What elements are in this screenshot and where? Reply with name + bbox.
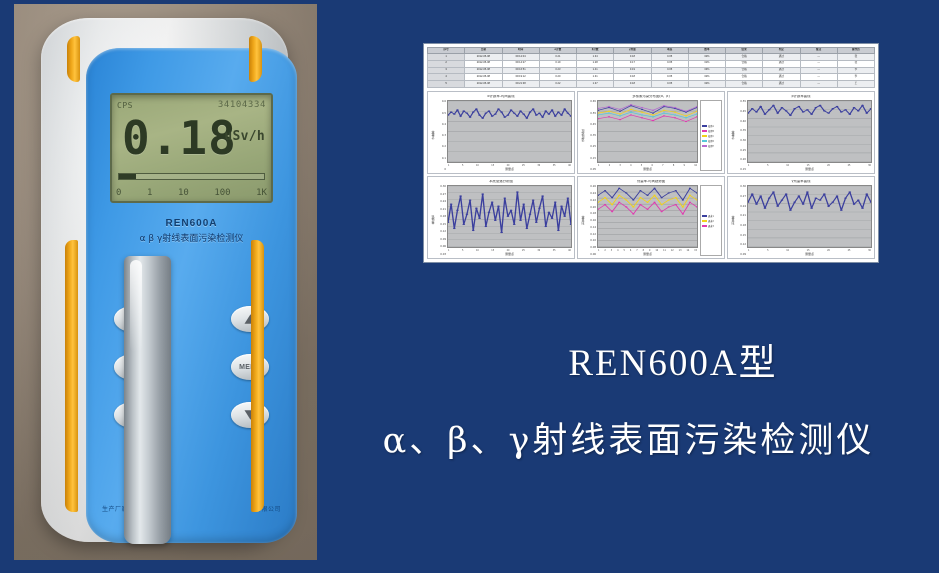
chart-data-point bbox=[541, 117, 544, 118]
chart-plot-column: 151015202530测量点 bbox=[747, 100, 872, 171]
chart-y-ticks: 0.650.550.450.350.250.150.05 bbox=[586, 100, 597, 171]
chart-data-point bbox=[793, 202, 796, 203]
table-cell: 0.05 bbox=[651, 67, 688, 74]
table-cell: 合格 bbox=[726, 81, 763, 88]
chart-data-point bbox=[551, 110, 554, 111]
chart-data-point bbox=[566, 198, 569, 199]
table-cell: — bbox=[800, 67, 837, 74]
chart-data-point bbox=[491, 202, 494, 203]
chart-data-point bbox=[557, 230, 560, 231]
chart-data-point bbox=[675, 197, 677, 198]
chart-data-point bbox=[768, 110, 771, 111]
table-cell: 0.05 bbox=[651, 81, 688, 88]
lcd-display: CPS 34104334 0.18 uSv/h 01101001K bbox=[110, 93, 273, 203]
chart-data-point bbox=[810, 114, 813, 115]
chart-data-point bbox=[529, 112, 532, 113]
chart-data-point bbox=[625, 207, 627, 208]
table-cell: 09:16:51 bbox=[502, 67, 539, 74]
chart-data-point bbox=[798, 106, 801, 107]
chart-data-point bbox=[689, 188, 691, 189]
chart-data-point bbox=[789, 115, 792, 116]
chart-y-tick: 0.21 bbox=[736, 214, 746, 217]
chart-data-point bbox=[768, 198, 771, 199]
chart-data-point bbox=[462, 111, 465, 112]
chart-svg bbox=[748, 186, 871, 247]
chart-data-point bbox=[608, 113, 610, 114]
chart-body: 剂量率0.260.240.220.200.180.160.140.120.100… bbox=[580, 185, 722, 256]
chart-data-point bbox=[611, 204, 613, 205]
chart-y-tick: 0.16 bbox=[586, 219, 596, 222]
chart-data-point bbox=[619, 116, 621, 117]
chart-data-point bbox=[815, 107, 818, 108]
lcd-bargraph bbox=[118, 173, 265, 180]
chart-y-tick: 0.05 bbox=[586, 168, 596, 171]
chart-data-point bbox=[630, 115, 632, 116]
table-cell: 0.05 bbox=[651, 60, 688, 67]
chart-data-point bbox=[639, 204, 641, 205]
table-cell: 1.28 bbox=[577, 60, 614, 67]
chart-plot-area bbox=[447, 100, 572, 163]
chart-data-point bbox=[554, 116, 557, 117]
chart-data-point bbox=[608, 106, 610, 107]
chart-y-tick: 0.25 bbox=[586, 145, 596, 148]
chart-data-point bbox=[675, 204, 677, 205]
chart-legend-label: 核素C bbox=[708, 134, 714, 138]
table-cell: 王 bbox=[837, 81, 874, 88]
chart-data-point bbox=[663, 105, 665, 106]
chart-data-point bbox=[618, 202, 620, 203]
chart-y-tick: 0.45 bbox=[586, 123, 596, 126]
chart-data-point bbox=[815, 198, 818, 199]
chart-data-point bbox=[776, 113, 779, 114]
chart-y-ticks: 0.300.270.240.210.180.150.120.090.060.03 bbox=[436, 185, 447, 256]
chart-data-point bbox=[653, 188, 655, 189]
chart-x-axis-label: 测量点 bbox=[597, 167, 698, 171]
table-cell: 0.22 bbox=[539, 81, 576, 88]
chart-title: 多核素污染分布图(α、β) bbox=[580, 95, 722, 98]
chart-data-point bbox=[525, 228, 528, 229]
chart-y-tick: 0.24 bbox=[736, 205, 746, 208]
chart-y-tick: 0.40 bbox=[736, 120, 746, 123]
chart-legend: 核素A核素B核素C核素D核素E bbox=[700, 100, 722, 171]
table-cell: 1.34 bbox=[577, 54, 614, 61]
table-cell: 0.20 bbox=[539, 74, 576, 81]
lcd-mode-label: CPS bbox=[117, 101, 133, 110]
chart-data-point bbox=[819, 200, 822, 201]
table-cell: 4 bbox=[428, 74, 465, 81]
chart-plot-column: 151015202530测量点 bbox=[747, 185, 872, 256]
chart-y-tick: 0 bbox=[436, 168, 446, 171]
table-cell: 0.18 bbox=[614, 54, 651, 61]
lcd-scale-tick: 1 bbox=[147, 188, 152, 198]
chart-y-tick: 0.09 bbox=[736, 253, 746, 256]
chart-legend-swatch bbox=[702, 135, 707, 137]
chart-data-point bbox=[494, 114, 497, 115]
chart-data-point bbox=[551, 218, 554, 219]
chart-data-point bbox=[608, 117, 610, 118]
chart-svg bbox=[598, 101, 697, 162]
chart-data-point bbox=[611, 197, 613, 198]
lcd-bargraph-fill bbox=[119, 174, 136, 179]
chart-legend-item: 通道1 bbox=[702, 214, 720, 218]
chart-y-tick: 0.30 bbox=[736, 185, 746, 188]
chart-data-point bbox=[652, 115, 654, 116]
chart-data-point bbox=[554, 202, 557, 203]
chart-data-point bbox=[865, 113, 868, 114]
chart-data-point bbox=[513, 224, 516, 225]
chart-data-point bbox=[548, 114, 551, 115]
chart-data-point bbox=[776, 206, 779, 207]
chart-y-tick: 0.03 bbox=[436, 253, 446, 256]
chart-series-line bbox=[598, 110, 697, 117]
chart-legend-label: 核素E bbox=[708, 144, 714, 148]
chart-data-point bbox=[641, 112, 643, 113]
chart-data-point bbox=[653, 202, 655, 203]
table-cell: 2012-05-08 bbox=[465, 74, 502, 81]
device-description-print: α β γ射线表面污染检测仪 bbox=[86, 231, 297, 244]
chart-data-point bbox=[827, 113, 830, 114]
table-cell: 1.41 bbox=[577, 67, 614, 74]
chart-data-point bbox=[516, 192, 519, 193]
chart-data-point bbox=[519, 111, 522, 112]
chart-data-point bbox=[538, 113, 541, 114]
grip-top-left bbox=[67, 36, 80, 82]
chart-data-point bbox=[494, 220, 497, 221]
slide-root: CPS 34104334 0.18 uSv/h 01101001K REN600… bbox=[0, 0, 939, 573]
chart-y-tick: 0.35 bbox=[736, 129, 746, 132]
chart-data-point bbox=[748, 202, 749, 203]
table-cell: 0.23 bbox=[539, 67, 576, 74]
table-cell: 32% bbox=[688, 74, 725, 81]
chart-data-point bbox=[632, 214, 634, 215]
chart-y-tick: 0.65 bbox=[586, 100, 596, 103]
chart-y-tick: 0.24 bbox=[436, 200, 446, 203]
chart-legend-swatch bbox=[702, 125, 707, 127]
chart-data-point bbox=[781, 200, 784, 201]
chart-data-point bbox=[870, 202, 871, 203]
chart-data-point bbox=[785, 111, 788, 112]
table-cell: 通过 bbox=[763, 60, 800, 67]
chart-data-point bbox=[535, 115, 538, 116]
table-row[interactable]: 22012-05-0809:14:270.191.280.170.0531%合格… bbox=[428, 60, 875, 67]
chart-data-point bbox=[836, 106, 839, 107]
chart-title: 剂量率-时间趋势图 bbox=[580, 180, 722, 183]
chart-legend-item: 核素A bbox=[702, 124, 720, 128]
chart-data-point bbox=[469, 117, 472, 118]
chart-data-point bbox=[802, 112, 805, 113]
chart-data-point bbox=[459, 196, 462, 197]
chart-y-tick: 0.26 bbox=[586, 185, 596, 188]
chart-y-tick: 0.18 bbox=[436, 215, 446, 218]
chart-data-point bbox=[844, 198, 847, 199]
chart-data-point bbox=[491, 116, 494, 117]
table-body: 12012-05-0809:12:040.211.340.180.0532%合格… bbox=[428, 54, 875, 88]
chart-data-point bbox=[661, 211, 663, 212]
chart-data-point bbox=[802, 204, 805, 205]
chart-y-tick: 0.18 bbox=[736, 224, 746, 227]
chart-plot-area bbox=[597, 185, 698, 248]
chart-y-tick: 0.08 bbox=[586, 246, 596, 249]
chart-y-tick: 0.55 bbox=[736, 100, 746, 103]
chart-data-point bbox=[857, 111, 860, 112]
chart-legend-swatch bbox=[702, 215, 707, 217]
table-cell: 1.37 bbox=[577, 81, 614, 88]
chart-data-point bbox=[503, 117, 506, 118]
chart-data-point bbox=[450, 112, 453, 113]
chart-data-point bbox=[478, 218, 481, 219]
chart-y-tick: 0.3 bbox=[436, 134, 446, 137]
chart-data-point bbox=[488, 212, 491, 213]
chart-data-point bbox=[764, 114, 767, 115]
table-cell: 09:21:38 bbox=[502, 81, 539, 88]
chart-data-point bbox=[806, 110, 809, 111]
chart-legend: 通道1通道2通道3 bbox=[700, 185, 722, 256]
chart-data-point bbox=[475, 109, 478, 110]
chart-data-point bbox=[462, 224, 465, 225]
page-title: REN600A型 bbox=[423, 332, 923, 386]
chart-plot-area bbox=[747, 100, 872, 163]
chart-data-point bbox=[674, 112, 676, 113]
chart-data-point bbox=[472, 112, 475, 113]
lcd-unit-label: uSv/h bbox=[224, 129, 265, 144]
chart-data-point bbox=[685, 121, 687, 122]
chart-data-point bbox=[604, 197, 606, 198]
chart-data-point bbox=[789, 210, 792, 211]
chart-data-point bbox=[525, 118, 528, 119]
chart-data-point bbox=[759, 196, 762, 197]
chart-data-point bbox=[823, 194, 826, 195]
chart-data-point bbox=[456, 210, 459, 211]
chart-data-point bbox=[608, 111, 610, 112]
table-cell: 张 bbox=[837, 60, 874, 67]
table-cell: 通过 bbox=[763, 67, 800, 74]
chart-data-point bbox=[751, 108, 754, 109]
lcd-reading-value: 0.18 bbox=[122, 115, 237, 161]
chart-data-point bbox=[848, 192, 851, 193]
chart-data-point bbox=[827, 206, 830, 207]
lcd-scale-tick: 100 bbox=[214, 188, 230, 198]
chart-data-point bbox=[510, 210, 513, 211]
chart-data-point bbox=[535, 222, 538, 223]
chart-grid: α计数率-时间曲线计数率0.60.50.40.30.20.10151015202… bbox=[427, 91, 875, 259]
chart-data-point bbox=[853, 204, 856, 205]
chart-data-point bbox=[557, 112, 560, 113]
chart-data-point bbox=[652, 110, 654, 111]
chart-data-point bbox=[560, 206, 563, 207]
chart-data-point bbox=[604, 204, 606, 205]
chart-svg bbox=[448, 101, 571, 162]
chart-data-point bbox=[560, 115, 563, 116]
chart-data-point bbox=[682, 207, 684, 208]
chart-body: 本底值0.300.270.240.210.180.150.120.090.060… bbox=[430, 185, 572, 256]
chart-data-point bbox=[663, 116, 665, 117]
chart-x-axis-label: 测量点 bbox=[447, 252, 572, 256]
chart-legend-item: 通道3 bbox=[702, 224, 720, 228]
chart-data-point bbox=[625, 193, 627, 194]
chart-data-point bbox=[772, 192, 775, 193]
chart-data-point bbox=[507, 115, 510, 116]
device-model-print: REN600A bbox=[86, 218, 297, 229]
chart-series-line bbox=[598, 105, 697, 112]
chart-y-tick: 0.24 bbox=[586, 192, 596, 195]
grip-top-right bbox=[249, 36, 262, 82]
chart-data-point bbox=[522, 204, 525, 205]
chart-data-point bbox=[544, 226, 547, 227]
chart-data-point bbox=[475, 208, 478, 209]
chart-legend-item: 通道2 bbox=[702, 219, 720, 223]
chart-data-point bbox=[538, 208, 541, 209]
table-cell: 32% bbox=[688, 54, 725, 61]
chart-data-point bbox=[857, 200, 860, 201]
chart-data-point bbox=[759, 106, 762, 107]
grip-left bbox=[65, 240, 78, 512]
chart-data-point bbox=[459, 116, 462, 117]
chart-data-point bbox=[661, 204, 663, 205]
chart-data-point bbox=[641, 109, 643, 110]
chart-data-point bbox=[618, 188, 620, 189]
chart-data-point bbox=[497, 109, 500, 110]
chart-data-point bbox=[541, 196, 544, 197]
chart-multi-nuclide: 多核素污染分布图(α、β)活度浓度0.650.550.450.350.250.1… bbox=[577, 91, 725, 174]
chart-plot-column: 12345678910测量点 bbox=[597, 100, 698, 171]
grip-right bbox=[251, 240, 264, 512]
chart-y-tick: 0.45 bbox=[736, 110, 746, 113]
chart-data-point bbox=[448, 222, 449, 223]
chart-background: 本底涨落分析图本底值0.300.270.240.210.180.150.120.… bbox=[427, 176, 575, 259]
table-row[interactable]: 52012-05-0809:21:380.221.370.180.0532%合格… bbox=[428, 81, 875, 88]
chart-data-point bbox=[781, 107, 784, 108]
chart-data-point bbox=[604, 190, 606, 191]
table-cell: 2012-05-08 bbox=[465, 54, 502, 61]
table-cell: 33% bbox=[688, 67, 725, 74]
chart-y-axis-label: 本底值 bbox=[430, 185, 436, 256]
lcd-status-label: 34104334 bbox=[218, 100, 266, 110]
chart-x-axis-label: 测量点 bbox=[597, 252, 698, 256]
chart-data-point bbox=[570, 224, 571, 225]
table-cell: 31% bbox=[688, 60, 725, 67]
chart-y-tick: 0.6 bbox=[436, 100, 446, 103]
table-cell: 0.21 bbox=[539, 54, 576, 61]
chart-beta-count: β计数率曲线计数率0.550.450.400.350.300.250.200.1… bbox=[727, 91, 875, 174]
chart-data-point bbox=[466, 113, 469, 114]
chart-data-point bbox=[682, 200, 684, 201]
chart-svg bbox=[448, 186, 571, 247]
chart-data-point bbox=[519, 220, 522, 221]
chart-y-ticks: 0.260.240.220.200.180.160.140.120.100.08… bbox=[586, 185, 597, 256]
chart-data-point bbox=[674, 118, 676, 119]
chart-svg bbox=[748, 101, 871, 162]
chart-data-point bbox=[652, 117, 654, 118]
chart-data-point bbox=[507, 216, 510, 217]
measurement-data-table: 序号日期时间α计数β计数γ剂量本底效率结果判定备注操作员 12012-05-08… bbox=[427, 47, 875, 88]
chart-title: 本底涨落分析图 bbox=[430, 180, 572, 183]
chart-data-point bbox=[836, 196, 839, 197]
table-cell: 通过 bbox=[763, 54, 800, 61]
chart-data-point bbox=[652, 113, 654, 114]
chart-data-point bbox=[772, 105, 775, 106]
chart-legend-item: 核素C bbox=[702, 134, 720, 138]
chart-y-axis-label: 剂量率 bbox=[580, 185, 586, 256]
chart-data-point bbox=[668, 200, 670, 201]
chart-data-point bbox=[625, 200, 627, 201]
chart-data-point bbox=[668, 193, 670, 194]
table-row[interactable]: 32012-05-0809:16:510.231.410.190.0533%合格… bbox=[428, 67, 875, 74]
chart-data-point bbox=[755, 204, 758, 205]
table-row[interactable]: 12012-05-0809:12:040.211.340.180.0532%合格… bbox=[428, 54, 875, 61]
table-cell: 0.05 bbox=[651, 54, 688, 61]
table-cell: 1 bbox=[428, 54, 465, 61]
chart-data-point bbox=[500, 232, 503, 233]
chart-data-point bbox=[632, 207, 634, 208]
chart-data-point bbox=[646, 209, 648, 210]
chart-x-axis-label: 测量点 bbox=[747, 252, 872, 256]
chart-data-point bbox=[639, 197, 641, 198]
chart-plot-column: 1510152025303540测量点 bbox=[447, 185, 572, 256]
chart-plot-column: 1510152025303540测量点 bbox=[447, 100, 572, 171]
chart-data-point bbox=[453, 228, 456, 229]
lcd-scale-tick: 1K bbox=[256, 188, 267, 198]
chart-data-point bbox=[641, 118, 643, 119]
table-cell: 5 bbox=[428, 81, 465, 88]
table-cell: 3 bbox=[428, 67, 465, 74]
chart-y-tick: 0.4 bbox=[436, 123, 446, 126]
chart-y-tick: 0.27 bbox=[736, 195, 746, 198]
chart-y-tick: 0.06 bbox=[586, 253, 596, 256]
chart-y-tick: 0.25 bbox=[736, 149, 746, 152]
chart-y-tick: 0.14 bbox=[586, 226, 596, 229]
chart-y-ticks: 0.60.50.40.30.20.10 bbox=[436, 100, 447, 171]
chart-y-axis-label: 计数率 bbox=[730, 100, 736, 171]
table-cell: — bbox=[800, 60, 837, 67]
chart-data-point bbox=[532, 109, 535, 110]
chart-data-point bbox=[500, 112, 503, 113]
chart-data-point bbox=[632, 200, 634, 201]
table-cell: 0.19 bbox=[614, 67, 651, 74]
chart-data-point bbox=[819, 105, 822, 106]
chart-data-point bbox=[793, 108, 796, 109]
chart-y-tick: 0.2 bbox=[436, 145, 446, 148]
chart-data-point bbox=[488, 111, 491, 112]
chart-data-point bbox=[798, 196, 801, 197]
chart-data-point bbox=[689, 195, 691, 196]
chart-y-tick: 0.21 bbox=[436, 208, 446, 211]
chart-plot-column: 123456789101112131415测量点 bbox=[597, 185, 698, 256]
chart-data-point bbox=[566, 113, 569, 114]
table-row[interactable]: 42012-05-0809:19:120.201.310.180.0532%合格… bbox=[428, 74, 875, 81]
table-cell: 2 bbox=[428, 60, 465, 67]
page-subtitle: α、β、γ射线表面污染检测仪 bbox=[318, 412, 939, 463]
software-screenshot: 序号日期时间α计数β计数γ剂量本底效率结果判定备注操作员 12012-05-08… bbox=[423, 43, 879, 263]
chart-plot-area bbox=[597, 100, 698, 163]
lcd-scale-ticks: 01101001K bbox=[116, 188, 267, 198]
chart-y-tick: 0.15 bbox=[736, 234, 746, 237]
chart-legend-item: 核素D bbox=[702, 139, 720, 143]
chart-data-point bbox=[675, 190, 677, 191]
chart-data-point bbox=[529, 214, 532, 215]
chart-y-axis-label: 剂量率 bbox=[730, 185, 736, 256]
chart-data-point bbox=[619, 109, 621, 110]
chart-y-tick: 0.5 bbox=[436, 112, 446, 115]
chart-y-tick: 0.10 bbox=[586, 239, 596, 242]
chart-y-tick: 0.09 bbox=[436, 238, 446, 241]
chart-y-axis-label: 活度浓度 bbox=[580, 100, 586, 171]
table-cell: 合格 bbox=[726, 74, 763, 81]
chart-gamma-dose: γ剂量率曲线剂量率0.300.270.240.210.180.150.120.0… bbox=[727, 176, 875, 259]
chart-y-tick: 0.15 bbox=[586, 157, 596, 160]
chart-data-point bbox=[844, 110, 847, 111]
chart-data-point bbox=[472, 230, 475, 231]
survey-meter-device: CPS 34104334 0.18 uSv/h 01101001K REN600… bbox=[41, 18, 288, 542]
